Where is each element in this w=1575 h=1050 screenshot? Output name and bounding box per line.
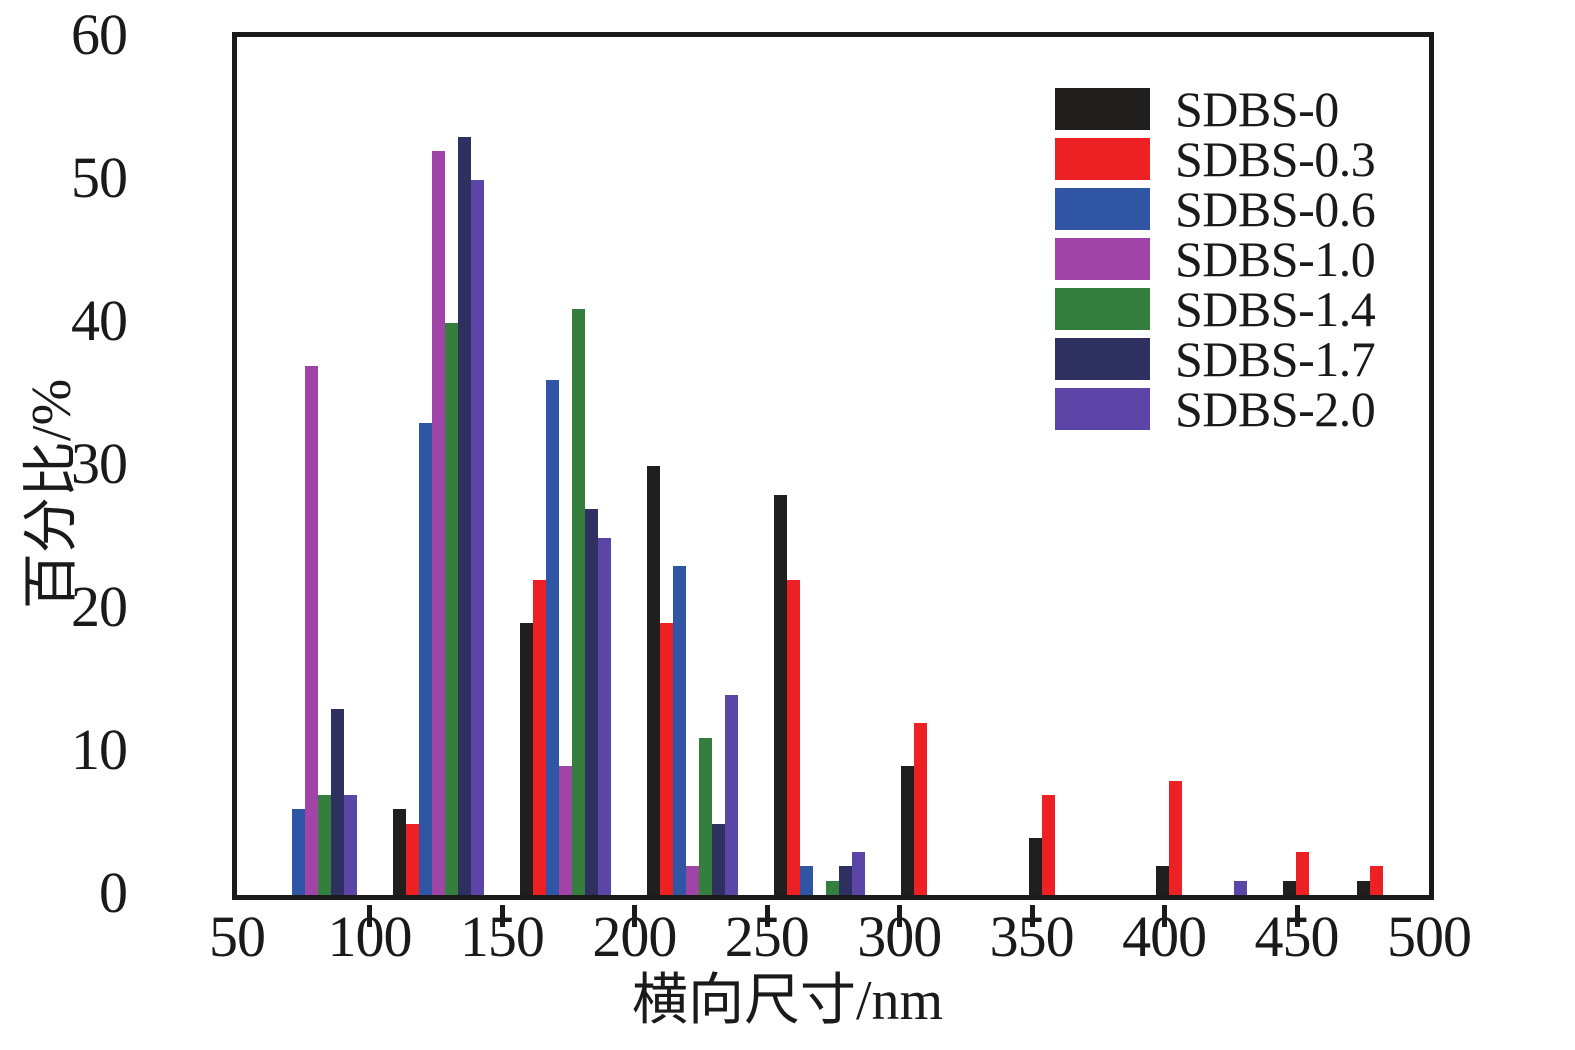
bar [1042, 795, 1055, 895]
legend-item: SDBS-1.4 [1055, 284, 1415, 334]
bar [1156, 866, 1169, 895]
bar [852, 852, 865, 895]
bar-chart-figure: 0102030405060 50100150200250300350400450… [0, 0, 1575, 1050]
legend-swatch [1055, 388, 1150, 430]
legend-item: SDBS-1.0 [1055, 234, 1415, 284]
legend-swatch [1055, 238, 1150, 280]
y-tick-label: 60 [71, 6, 127, 64]
legend-swatch [1055, 138, 1150, 180]
bar [546, 380, 559, 895]
bar [699, 738, 712, 895]
bar [598, 538, 611, 896]
bar [774, 495, 787, 895]
bar [647, 466, 660, 895]
legend-item: SDBS-0.6 [1055, 184, 1415, 234]
bar [725, 695, 738, 895]
bar [1357, 881, 1370, 895]
bar [1029, 838, 1042, 895]
bar [292, 809, 305, 895]
y-tick-label: 0 [99, 864, 127, 922]
legend-swatch [1055, 338, 1150, 380]
bar [673, 566, 686, 895]
bar [901, 766, 914, 895]
legend-item: SDBS-2.0 [1055, 384, 1415, 434]
bar [471, 180, 484, 895]
bar [787, 580, 800, 895]
bar [458, 137, 471, 895]
bar [1234, 881, 1247, 895]
legend-swatch [1055, 88, 1150, 130]
legend-label: SDBS-1.7 [1175, 334, 1375, 384]
bar [800, 866, 813, 895]
bar [826, 881, 839, 895]
legend-label: SDBS-0 [1175, 84, 1339, 134]
bar [1296, 852, 1309, 895]
bar [559, 766, 572, 895]
legend-label: SDBS-2.0 [1175, 384, 1375, 434]
bar [914, 723, 927, 895]
bar [445, 323, 458, 895]
legend-swatch [1055, 188, 1150, 230]
bar [660, 623, 673, 895]
bar [533, 580, 546, 895]
bar [393, 809, 406, 895]
x-axis-title: 横向尺寸/nm [0, 972, 1575, 1031]
x-tick-label: 500 [1349, 908, 1509, 966]
bar [1169, 781, 1182, 895]
legend-label: SDBS-1.0 [1175, 234, 1375, 284]
bar [419, 423, 432, 895]
legend-item: SDBS-1.7 [1055, 334, 1415, 384]
bar [839, 866, 852, 895]
bar [1370, 866, 1383, 895]
bar [432, 151, 445, 895]
bar [406, 824, 419, 896]
bar [344, 795, 357, 895]
legend-label: SDBS-1.4 [1175, 284, 1375, 334]
legend-label: SDBS-0.6 [1175, 184, 1375, 234]
bar [686, 866, 699, 895]
chart-legend: SDBS-0SDBS-0.3SDBS-0.6SDBS-1.0SDBS-1.4SD… [1055, 84, 1415, 434]
bar [712, 824, 725, 896]
bar [520, 623, 533, 895]
bar [1283, 881, 1296, 895]
bar [331, 709, 344, 895]
legend-swatch [1055, 288, 1150, 330]
y-axis-title: 百分比/% [24, 174, 80, 814]
bar [318, 795, 331, 895]
legend-item: SDBS-0 [1055, 84, 1415, 134]
bar [585, 509, 598, 895]
bar [305, 366, 318, 895]
bar [572, 309, 585, 895]
legend-item: SDBS-0.3 [1055, 134, 1415, 184]
legend-label: SDBS-0.3 [1175, 134, 1375, 184]
